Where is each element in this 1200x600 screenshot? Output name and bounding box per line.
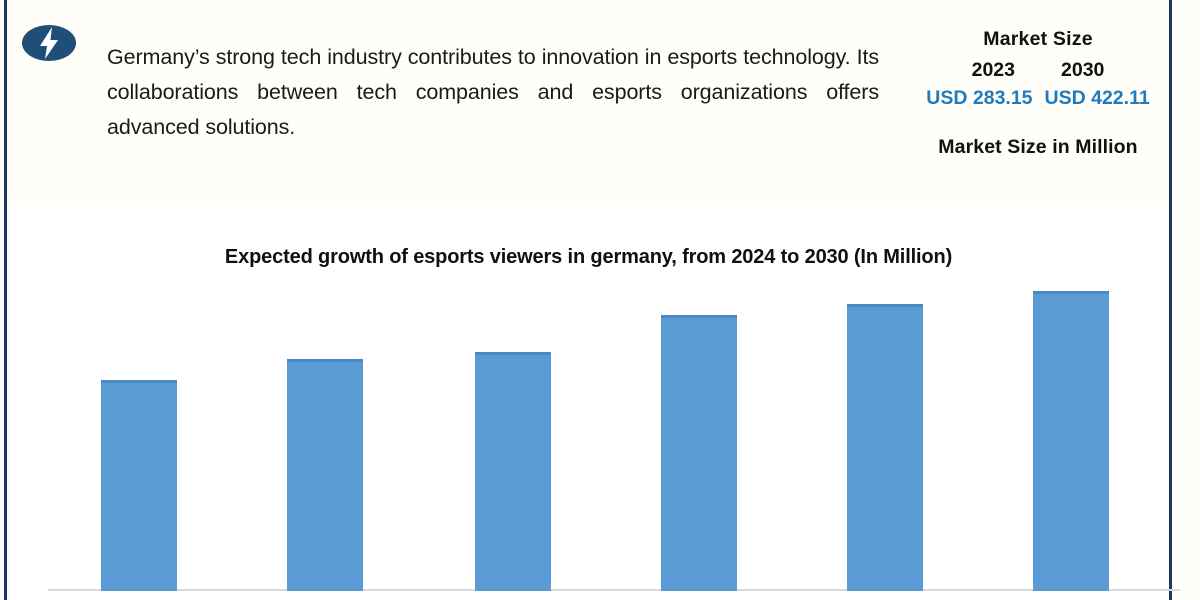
chart-bar[interactable] (287, 359, 363, 589)
chart-bar[interactable] (847, 304, 923, 589)
bar-chart: Expected growth of esports viewers in ge… (8, 200, 1169, 600)
header-band: Germany’s strong tech industry contribut… (8, 0, 1169, 200)
chart-bar[interactable] (101, 380, 177, 589)
chart-bar[interactable] (475, 352, 551, 589)
lightning-bolt-icon (21, 20, 77, 66)
chart-baseline-gridline (48, 589, 1180, 591)
market-size-footnote: Market Size in Million (888, 136, 1188, 159)
market-size-year-end: 2030 (1061, 59, 1104, 82)
market-size-heading: Market Size (888, 26, 1188, 52)
market-size-year-start: 2023 (972, 59, 1015, 82)
market-size-value-end: USD 422.11 (1045, 87, 1150, 110)
market-size-panel: Market Size 2023 2030 USD 283.15 USD 422… (888, 26, 1188, 159)
left-frame-rule (4, 0, 7, 600)
market-size-values: USD 283.15 USD 422.11 (888, 87, 1188, 110)
lead-paragraph: Germany’s strong tech industry contribut… (107, 40, 879, 145)
market-size-years: 2023 2030 (888, 59, 1188, 82)
chart-bar[interactable] (661, 315, 737, 589)
market-size-value-start: USD 283.15 (926, 87, 1032, 110)
infographic-page: Germany’s strong tech industry contribut… (0, 0, 1200, 600)
chart-bar[interactable] (1033, 291, 1109, 589)
chart-plot-area (8, 200, 1169, 600)
